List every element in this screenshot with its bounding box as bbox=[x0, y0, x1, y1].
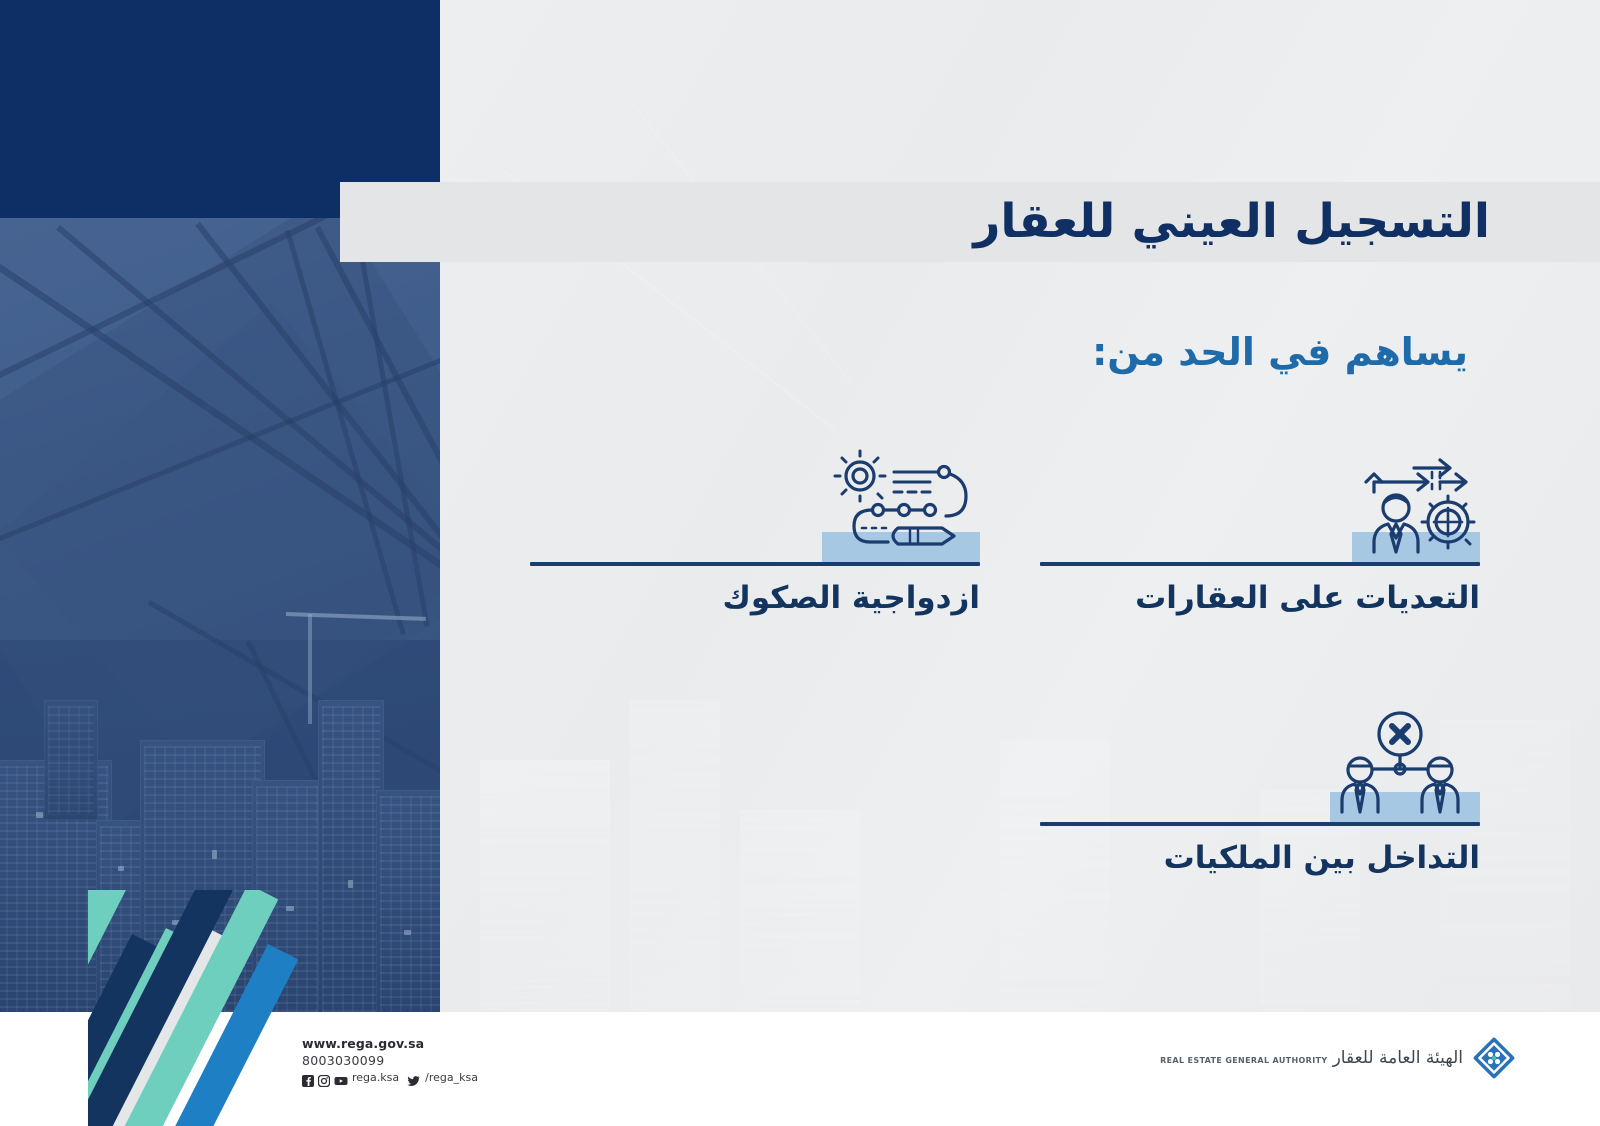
youtube-icon[interactable] bbox=[334, 1072, 346, 1084]
logo-text: الهيئة العامة للعقار REAL ESTATE GENERAL… bbox=[1160, 1048, 1463, 1068]
logo-text-arabic: الهيئة العامة للعقار bbox=[1333, 1048, 1463, 1068]
infographic-poster: التسجيل العيني للعقار يساهم في الحد من: bbox=[0, 0, 1600, 1126]
item-rule bbox=[530, 562, 980, 566]
social-handle: rega.ksa bbox=[352, 1071, 399, 1084]
watermark-shape bbox=[740, 810, 860, 1010]
item-encroachment: التعديات على العقارات bbox=[1010, 440, 1480, 640]
twitter-icon[interactable] bbox=[407, 1072, 419, 1084]
watermark-shape bbox=[630, 700, 720, 1010]
instagram-icon[interactable] bbox=[318, 1072, 330, 1084]
page-title: التسجيل العيني للعقار bbox=[690, 176, 1490, 268]
decorative-stripes bbox=[88, 890, 388, 1126]
organization-logo: الهيئة العامة للعقار REAL ESTATE GENERAL… bbox=[1160, 1036, 1516, 1080]
watermark-shape bbox=[480, 760, 610, 1010]
person-arrows-gear-icon bbox=[1352, 448, 1480, 558]
item-label: التداخل بين الملكيات bbox=[1010, 840, 1480, 876]
phone-number: 8003030099 bbox=[302, 1053, 482, 1068]
item-label: التعديات على العقارات bbox=[1010, 580, 1480, 616]
social-links: rega.ksa /rega_ksa bbox=[302, 1071, 482, 1084]
item-duplication: ازدواجية الصكوك bbox=[510, 440, 980, 640]
twitter-handle: /rega_ksa bbox=[425, 1071, 478, 1084]
subtitle: يساهم في الحد من: bbox=[1092, 330, 1468, 374]
item-overlap: التداخل بين الملكيات bbox=[1010, 700, 1480, 900]
contact-info: www.rega.gov.sa 8003030099 rega.ksa /reg… bbox=[302, 1036, 482, 1084]
website-url[interactable]: www.rega.gov.sa bbox=[302, 1036, 482, 1051]
item-rule bbox=[1040, 822, 1480, 826]
rega-diamond-emblem bbox=[1472, 1036, 1516, 1080]
two-people-conflict-icon bbox=[1330, 708, 1470, 818]
item-label: ازدواجية الصكوك bbox=[510, 580, 980, 616]
item-rule bbox=[1040, 562, 1480, 566]
gear-flow-pencil-icon bbox=[822, 448, 980, 560]
logo-text-english: REAL ESTATE GENERAL AUTHORITY bbox=[1160, 1056, 1327, 1065]
facebook-icon[interactable] bbox=[302, 1072, 314, 1084]
